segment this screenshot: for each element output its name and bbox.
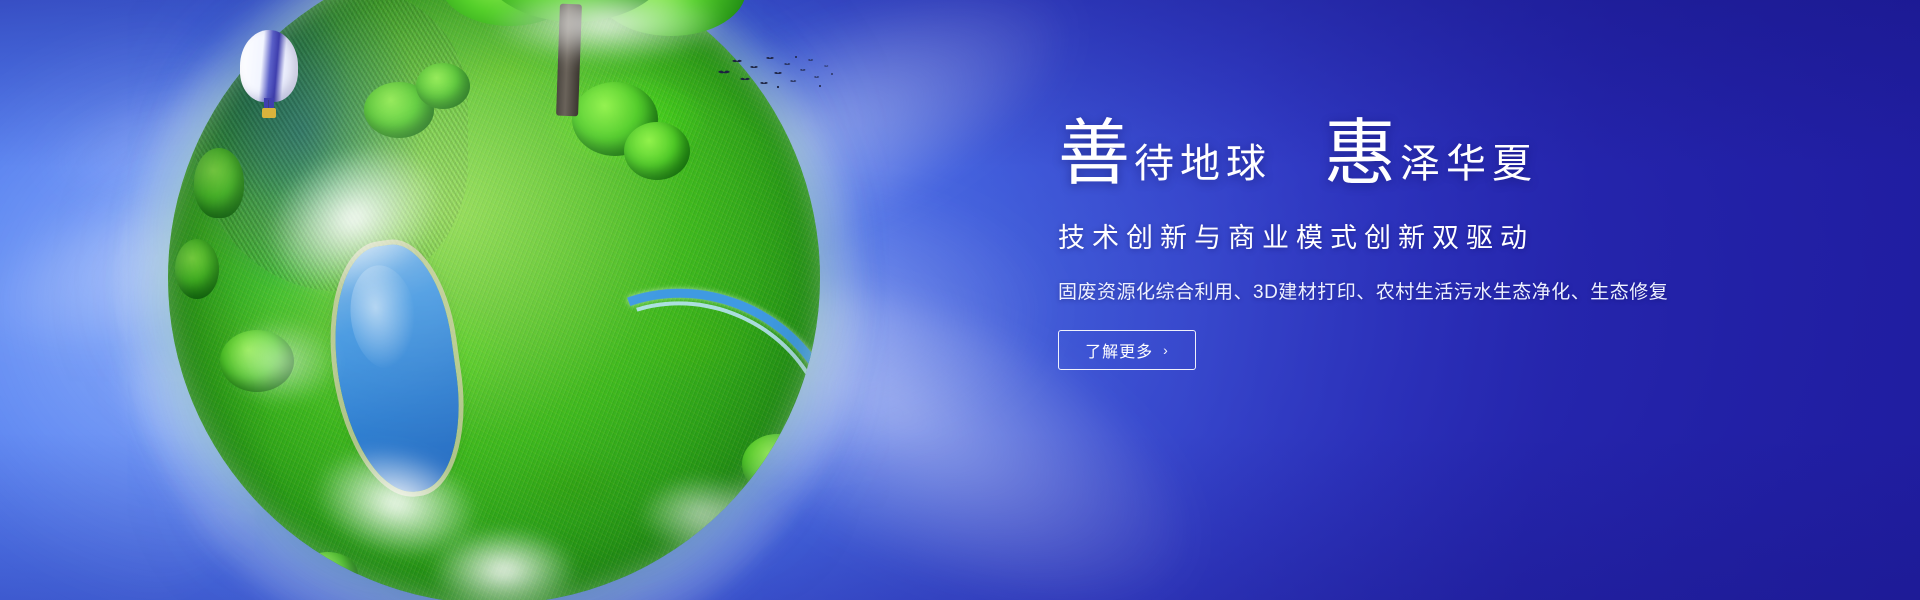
- headline-part2-small: 泽华夏: [1400, 144, 1538, 190]
- balloon-envelope: [240, 30, 298, 102]
- description: 固废资源化综合利用、3D建材打印、农村生活污水生态净化、生态修复: [1058, 277, 1698, 304]
- hot-air-balloon-icon: [240, 30, 298, 126]
- hero-text-block: 善 待地球 惠 泽华夏 技术创新与商业模式创新双驱动 固废资源化综合利用、3D建…: [1058, 118, 1698, 370]
- balloon-basket: [262, 108, 276, 118]
- chevron-right-icon: ›: [1163, 342, 1169, 358]
- headline-part1-big: 善: [1058, 118, 1130, 190]
- headline-part1-small: 待地球: [1134, 144, 1272, 190]
- learn-more-button[interactable]: 了解更多 ›: [1058, 330, 1196, 370]
- learn-more-label: 了解更多: [1085, 338, 1153, 362]
- subtitle: 技术创新与商业模式创新双驱动: [1058, 216, 1698, 255]
- balloon-neck: [264, 98, 274, 108]
- hero-banner: 善 待地球 惠 泽华夏 技术创新与商业模式创新双驱动 固废资源化综合利用、3D建…: [0, 0, 1920, 600]
- headline-part2-big: 惠: [1324, 118, 1396, 190]
- page-title: 善 待地球 惠 泽华夏: [1058, 118, 1698, 190]
- bird-flock-icon: [716, 52, 836, 94]
